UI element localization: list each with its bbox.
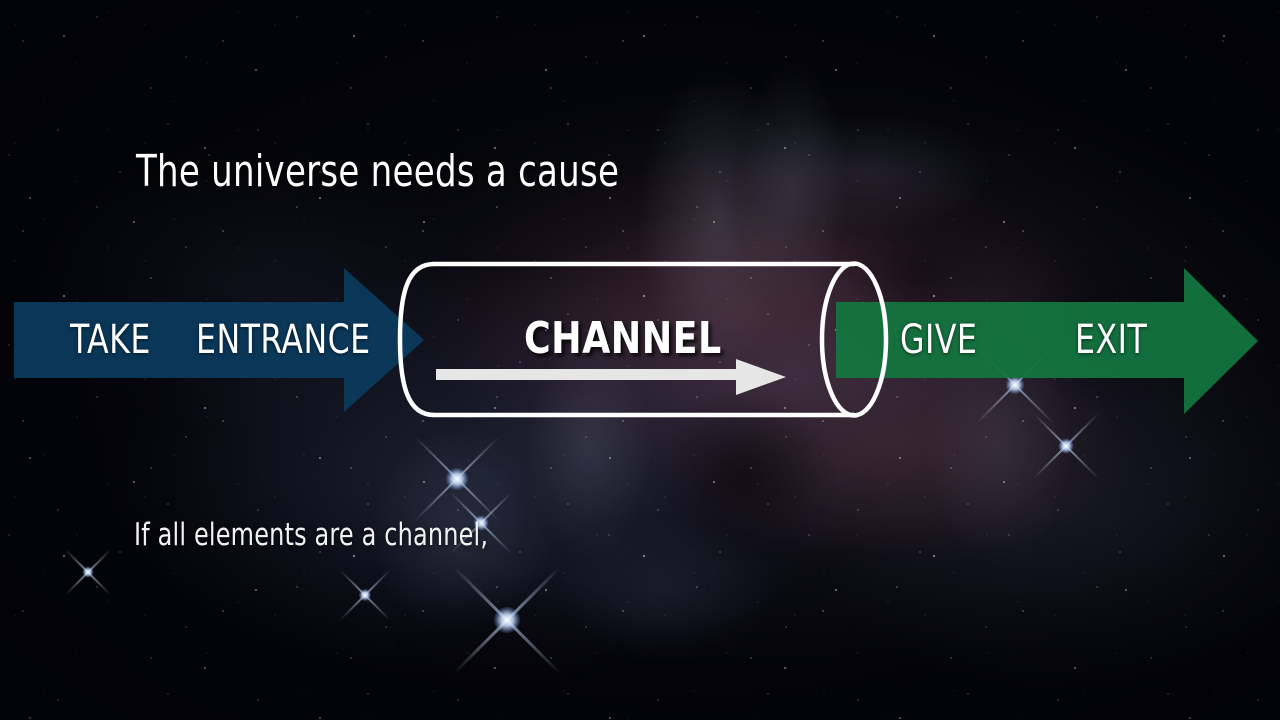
bright-star-icon	[330, 560, 400, 630]
slide-title: The universe needs a cause	[136, 146, 619, 197]
bright-star-icon	[432, 545, 582, 695]
arrow-label-exit: EXIT	[1075, 317, 1147, 363]
slide-canvas: The universe needs a cause TAKE ENTRANCE…	[0, 0, 1280, 720]
arrow-label-take: TAKE	[70, 317, 151, 363]
bright-star-icon	[56, 540, 120, 604]
bright-star-icon	[1020, 400, 1112, 492]
slide-caption: If all elements are a channel,	[134, 517, 488, 553]
channel-label: CHANNEL	[524, 313, 722, 364]
arrow-label-give: GIVE	[900, 317, 977, 363]
arrow-label-entrance: ENTRANCE	[196, 317, 371, 363]
